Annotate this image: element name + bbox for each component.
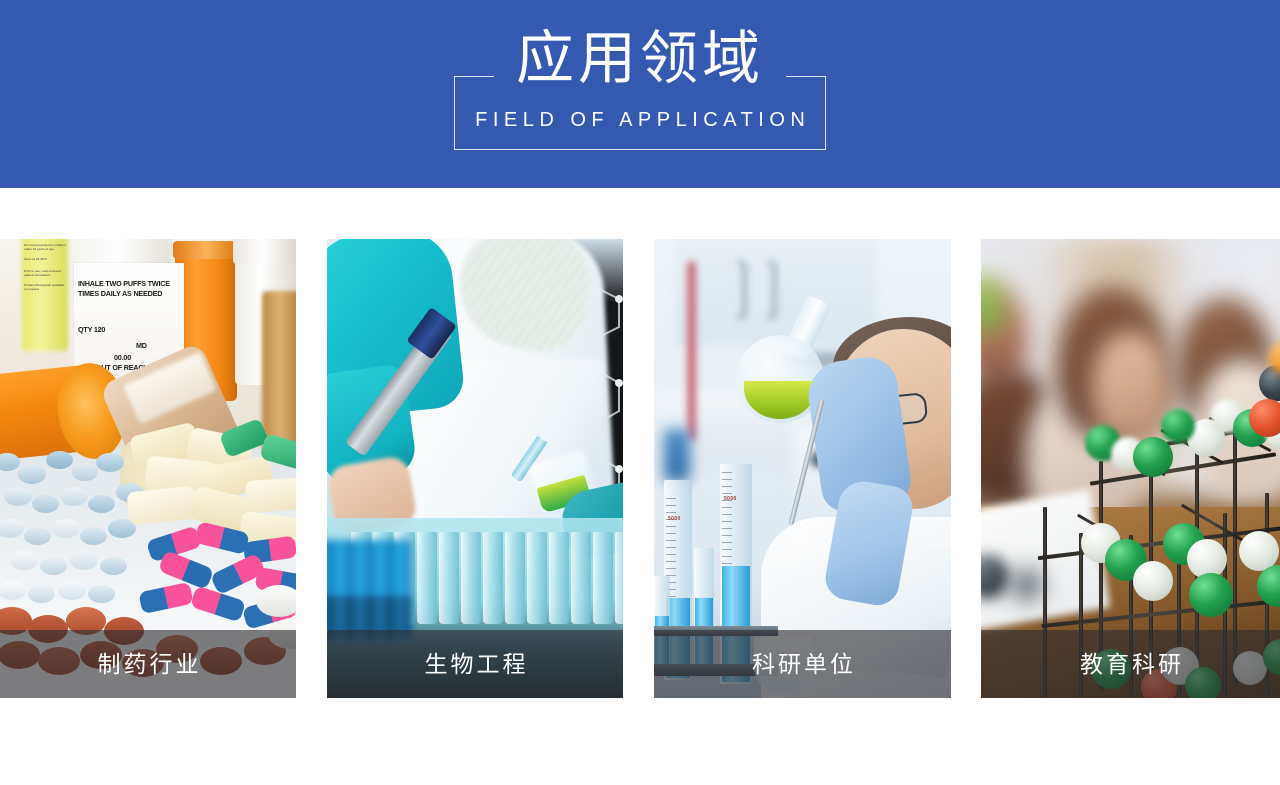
card-label-education: 教育科研 [1077,649,1184,679]
card-label-bar-pharmaceutical: 制药行业 [0,630,296,698]
page-title: 应用领域 [410,26,870,92]
card-label-research-institute: 科研单位 [749,649,856,679]
application-card-pharmaceutical[interactable]: Not recommended for children under 12 ye… [0,239,296,698]
application-card-research-institute[interactable]: 5000 5000 科研单位 [654,239,951,698]
pill-label-fine-5: patient instructions. [24,273,51,277]
application-card-education[interactable]: 教育科研 [981,239,1280,698]
application-cards: Not recommended for children under 12 ye… [0,239,1280,698]
pill-label-line-1: INHALE TWO PUFFS TWICE [78,279,170,288]
card-label-bar-bioengineering: 生物工程 [327,630,623,698]
card-label-pharmaceutical: 制药行业 [95,649,202,679]
pill-label-line-2: TIMES DAILY AS NEEDED [78,289,162,298]
page-subtitle: FIELD OF APPLICATION [410,108,870,132]
application-card-bioengineering[interactable]: 生物工程 [327,239,623,698]
card-label-bioengineering: 生物工程 [422,649,529,679]
pill-label-fine-3: Store at 15-30°C [24,257,47,261]
card-label-bar-education: 教育科研 [981,630,1280,698]
page-banner: 应用领域 FIELD OF APPLICATION [0,0,1280,188]
application-fields-page: 应用领域 FIELD OF APPLICATION Not recommende… [0,0,1280,785]
pill-label-md: MD [136,341,147,350]
pill-label-fine-2: under 12 years of age. [24,247,55,251]
pill-label-fine-7: on request. [24,287,39,291]
pill-label-price: 00.00 [114,353,131,362]
pill-label-qty: QTY 120 [78,325,105,334]
card-label-bar-research-institute: 科研单位 [654,630,951,698]
banner-title-block: 应用领域 FIELD OF APPLICATION [410,0,870,188]
